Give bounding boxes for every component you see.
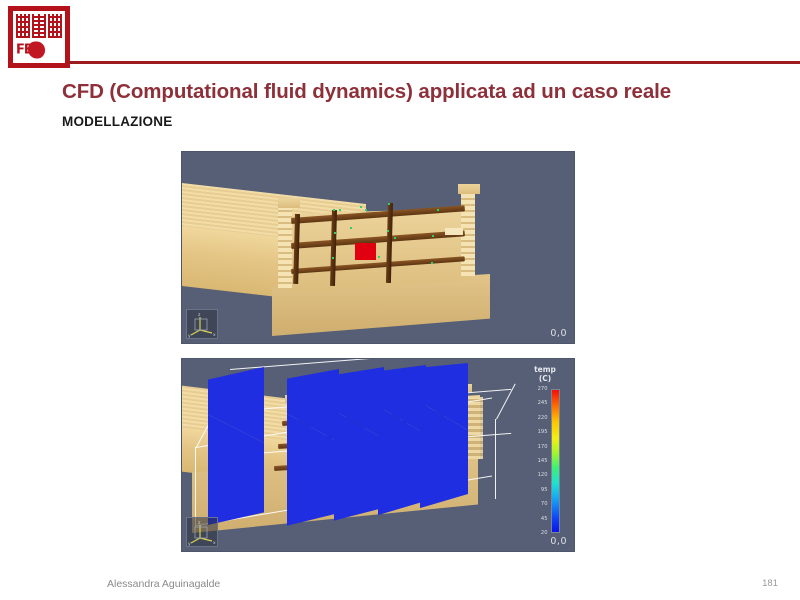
footer-page-number: 181 (762, 578, 778, 589)
mesh-node (333, 209, 335, 211)
seal-pattern: FBO (16, 14, 62, 60)
legend-tick-label: 120 (538, 472, 548, 478)
mesh-node (388, 203, 390, 205)
seal-glyph-2 (32, 14, 46, 38)
fbo-seal-logo: FBO (8, 6, 70, 68)
legend-title-line2: (C) (522, 374, 568, 383)
mesh-node (378, 256, 380, 258)
mesh-node (432, 235, 434, 237)
cfd-section-planes-view[interactable]: z x y 0,0 temp (C) 270245220195170145120… (181, 358, 575, 552)
footer-author: Alessandra Aguinagalde (107, 578, 220, 590)
viewport-scene-bottom: z x y 0,0 temp (C) 270245220195170145120… (182, 359, 574, 551)
left-brick-column (278, 202, 292, 288)
heated-billet (355, 243, 376, 260)
legend-tick-label: 170 (538, 444, 548, 450)
temperature-colorbar-legend: temp (C) 27024522019517014512095704520 (522, 365, 568, 537)
page-subtitle: MODELLAZIONE (62, 114, 172, 129)
page-title: CFD (Computational fluid dynamics) appli… (62, 80, 671, 104)
mesh-node (387, 230, 389, 232)
viewport-readout-top: 0,0 (550, 328, 567, 339)
right-pillar-cap (458, 184, 480, 194)
header-divider (68, 61, 800, 64)
svg-text:x: x (213, 333, 216, 338)
mesh-node (394, 237, 396, 239)
legend-tick-label: 145 (538, 458, 548, 464)
legend-tick-label: 20 (541, 530, 548, 536)
mesh-node (437, 209, 439, 211)
axis-triad-widget[interactable]: z x y (186, 517, 218, 547)
legend-tick-label: 45 (541, 516, 548, 522)
legend-color-gradient-bar (551, 389, 560, 533)
mesh-node (431, 262, 433, 264)
mesh-node (332, 257, 334, 259)
viewport-scene-top: z x y 0,0 (182, 152, 574, 343)
domain-wire-edge (230, 358, 511, 370)
svg-text:y: y (188, 334, 191, 338)
mesh-node (365, 209, 367, 211)
legend-title-line1: temp (522, 365, 568, 374)
cfd-geometry-view[interactable]: z x y 0,0 (181, 151, 575, 344)
seal-dot-icon (28, 42, 45, 59)
axis-triad-widget[interactable]: z x y (186, 309, 218, 339)
legend-tick-label: 95 (541, 487, 548, 493)
wall-vent-plate (445, 228, 463, 235)
legend-body: 27024522019517014512095704520 (522, 389, 568, 533)
left-pillar-cap (278, 198, 300, 208)
domain-wire-edge (495, 419, 496, 499)
legend-tick-label: 195 (538, 429, 548, 435)
mesh-node (334, 232, 336, 234)
mesh-node (350, 227, 352, 229)
legend-tick-label: 70 (541, 501, 548, 507)
svg-text:x: x (213, 541, 216, 546)
mesh-node (360, 206, 362, 208)
legend-tick-label: 245 (538, 400, 548, 406)
svg-text:y: y (188, 542, 191, 546)
legend-tick-label: 270 (538, 386, 548, 392)
seal-wordmark: FBO (16, 40, 46, 60)
mesh-node (339, 209, 341, 211)
legend-tick-label: 220 (538, 415, 548, 421)
domain-wire-edge (195, 447, 196, 527)
seal-glyph-1 (16, 14, 30, 38)
legend-tick-list: 27024522019517014512095704520 (531, 389, 548, 533)
seal-glyph-3 (48, 14, 62, 38)
viewport-readout-bottom: 0,0 (550, 536, 567, 547)
